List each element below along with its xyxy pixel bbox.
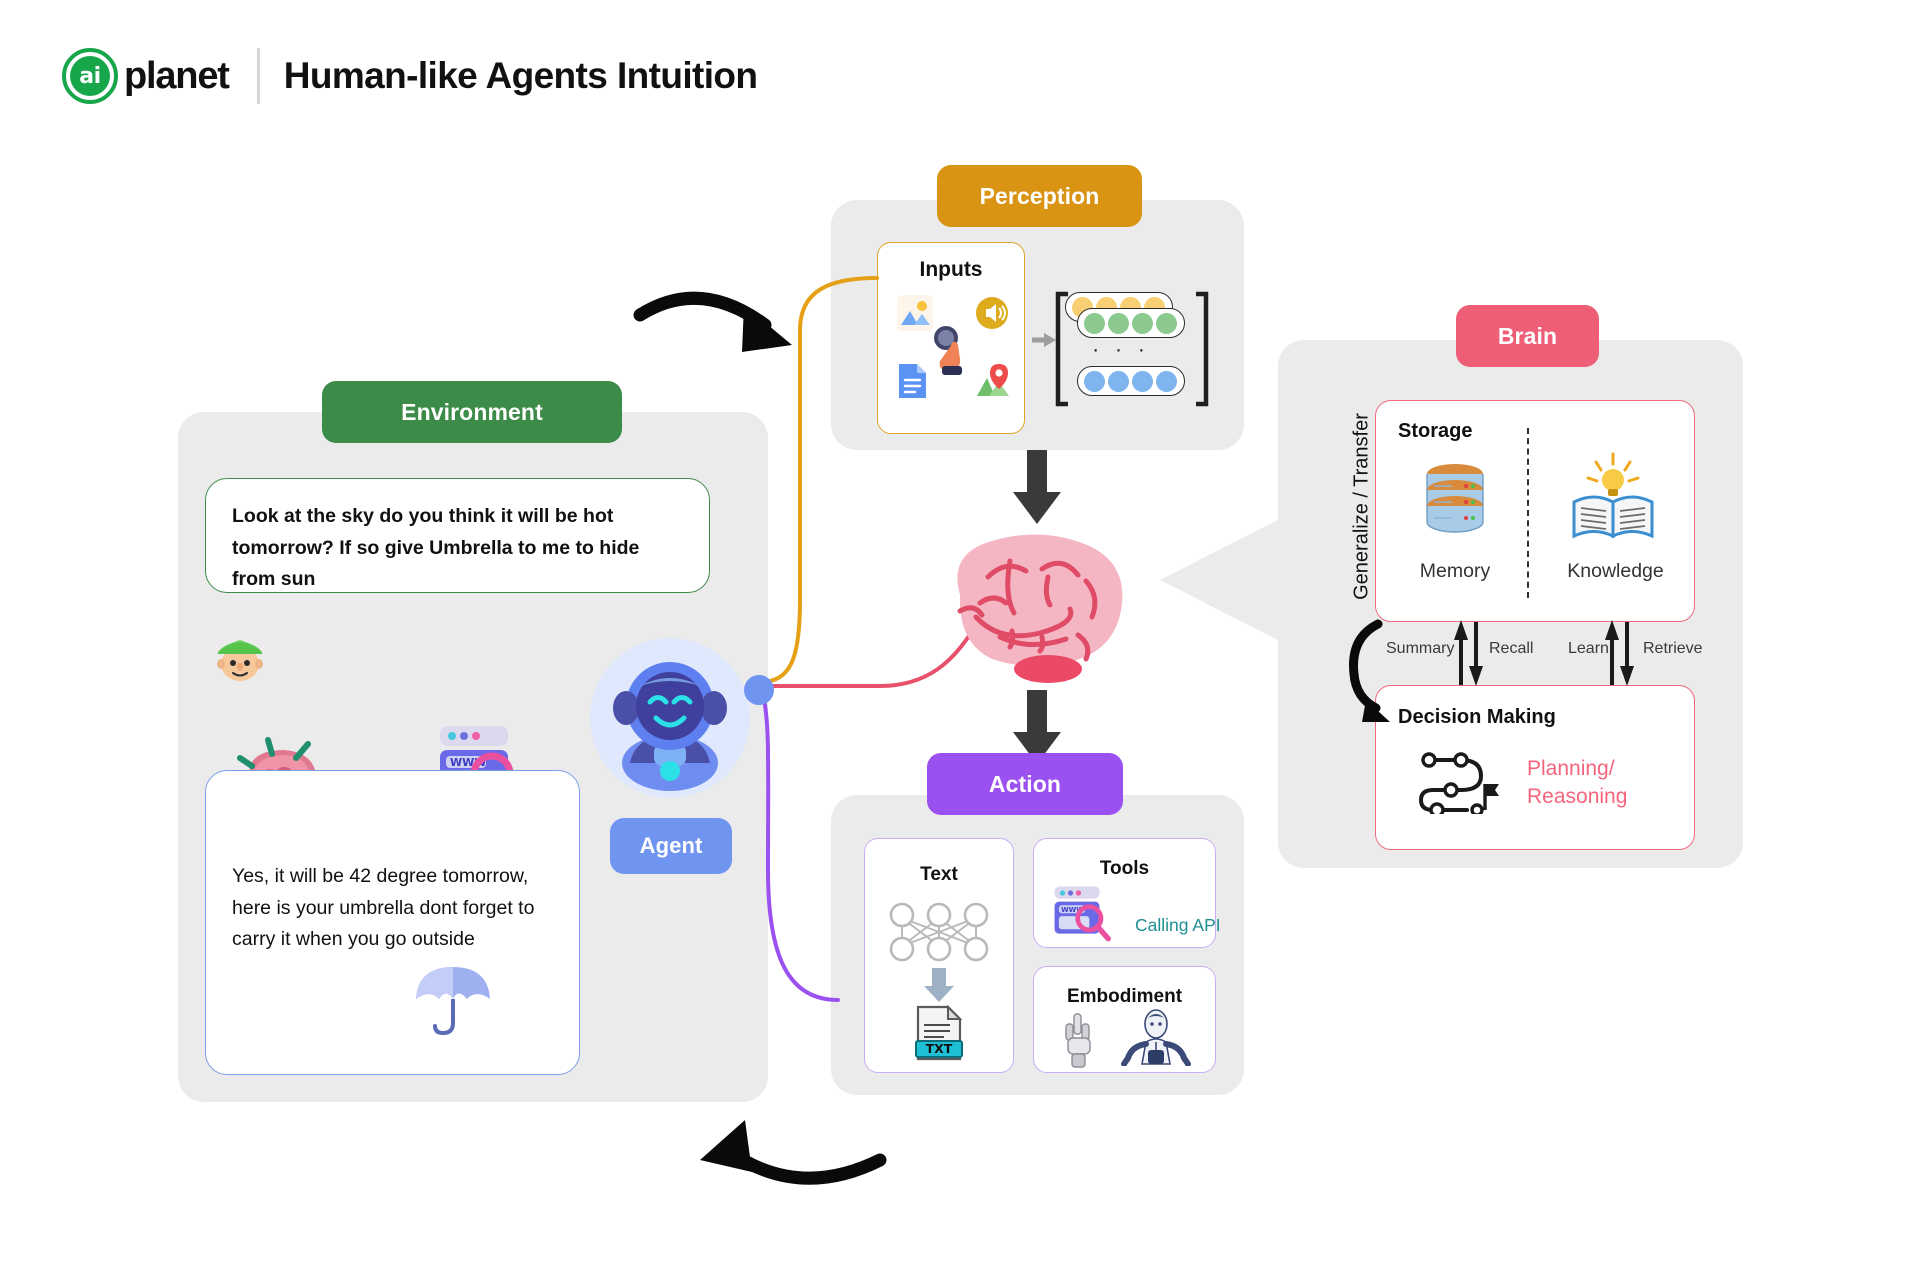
flow-label-recall: Recall — [1489, 640, 1533, 658]
action-badge: Action — [927, 753, 1123, 815]
image-icon — [897, 295, 933, 337]
embodiment-card-title: Embodiment — [1033, 986, 1216, 1008]
flow-label-retrieve: Retrieve — [1643, 640, 1703, 658]
umbrella-icon — [410, 955, 496, 1041]
text-card-title: Text — [864, 864, 1014, 886]
speaker-icon — [974, 295, 1010, 337]
perception-network: · · · — [1055, 290, 1207, 408]
calling-api-label: Calling API — [1135, 915, 1221, 936]
perception-badge: Perception — [937, 165, 1142, 227]
knowledge-label: Knowledge — [1548, 560, 1683, 583]
logo-badge-text: ai — [70, 56, 110, 96]
planning-reasoning-label: Planning/ Reasoning — [1527, 755, 1697, 812]
location-icon — [975, 362, 1011, 406]
network-layer-2 — [1077, 308, 1185, 338]
down-arrow-icon — [922, 968, 956, 1009]
open-book-lightbulb-icon — [1558, 452, 1668, 549]
humanoid-robot-icon — [1118, 1008, 1194, 1071]
network-layer-3 — [1077, 366, 1185, 396]
person-emoji-icon — [212, 630, 268, 695]
inputs-label: Inputs — [877, 258, 1025, 282]
brain-illustration — [930, 525, 1145, 685]
agent-message-bubble: Yes, it will be 42 degree tomorrow, here… — [205, 770, 580, 1075]
page-title: Human-like Agents Intuition — [284, 55, 758, 97]
storage-title: Storage — [1398, 420, 1472, 443]
touch-icon — [930, 325, 972, 381]
storage-divider — [1527, 428, 1529, 598]
page-header: ai planet Human-like Agents Intuition — [62, 44, 757, 108]
memory-label: Memory — [1394, 560, 1516, 583]
document-icon — [895, 362, 929, 406]
neural-graph-icon — [884, 898, 994, 969]
agent-avatar — [590, 638, 750, 798]
brain-badge: Brain — [1456, 305, 1599, 367]
agent-connector-dot — [744, 675, 774, 705]
environment-badge: Environment — [322, 381, 622, 443]
agent-badge: Agent — [610, 818, 732, 874]
diagram-canvas: ai planet Human-like Agents Intuition En… — [0, 0, 1915, 1261]
connector-action — [762, 690, 838, 1000]
header-divider — [257, 48, 260, 104]
decision-making-title: Decision Making — [1398, 706, 1556, 729]
flow-label-summary: Summary — [1386, 640, 1454, 658]
ai-planet-logo-icon: ai — [62, 48, 118, 104]
generalize-transfer-label: Generalize / Transfer — [1351, 392, 1374, 622]
database-icon — [1405, 462, 1505, 545]
robot-hand-icon — [1062, 1012, 1096, 1073]
flow-label-learn: Learn — [1568, 640, 1609, 658]
web-search-icon: WWW — [1045, 885, 1125, 943]
route-flag-icon — [1415, 748, 1507, 819]
txt-label: TXT — [926, 1041, 953, 1056]
tools-card-title: Tools — [1033, 858, 1216, 880]
user-message-bubble: Look at the sky do you think it will be … — [205, 478, 710, 593]
logo-wordmark: planet — [124, 55, 229, 98]
network-ellipsis: · · · — [1079, 338, 1163, 362]
txt-file-icon: TXT — [914, 1005, 964, 1066]
